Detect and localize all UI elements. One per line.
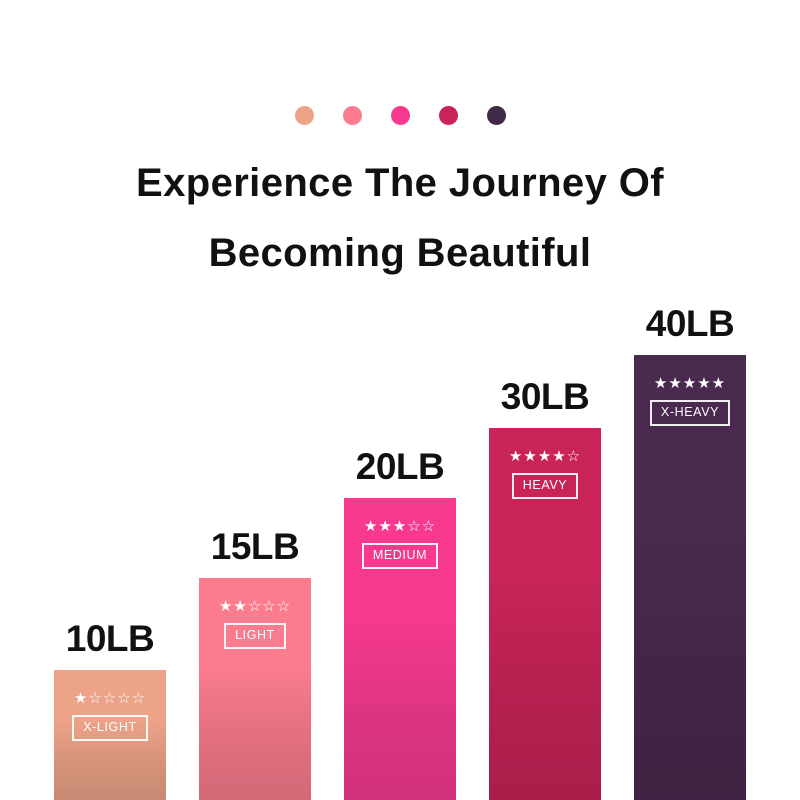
- star-rating-icon: ★★★★☆: [509, 449, 581, 464]
- palette-dot-icon-3: [391, 106, 410, 125]
- bar-column-15lb: 15LB ★★☆☆☆ LIGHT: [199, 280, 311, 800]
- palette-dot-icon-1: [295, 106, 314, 125]
- bar-30lb: ★★★★☆ HEAVY: [489, 428, 601, 800]
- level-name-badge: MEDIUM: [362, 543, 438, 569]
- bar-column-20lb: 20LB ★★★☆☆ MEDIUM: [344, 280, 456, 800]
- page-title: Experience The Journey Of Becoming Beaut…: [0, 148, 800, 288]
- star-rating-icon: ★☆☆☆☆: [74, 691, 146, 706]
- level-name-badge: HEAVY: [512, 473, 578, 499]
- bar-column-40lb: 40LB ★★★★★ X-HEAVY: [634, 280, 746, 800]
- bar-weight-label: 30LB: [501, 378, 589, 415]
- bar-weight-label: 10LB: [66, 620, 154, 657]
- page-title-line-2: Becoming Beautiful: [0, 218, 800, 288]
- level-name-badge: X-HEAVY: [650, 400, 730, 426]
- level-name-badge: LIGHT: [224, 623, 286, 649]
- bar-20lb: ★★★☆☆ MEDIUM: [344, 498, 456, 800]
- bar-15lb: ★★☆☆☆ LIGHT: [199, 578, 311, 800]
- bar-column-10lb: 10LB ★☆☆☆☆ X-LIGHT: [54, 280, 166, 800]
- star-rating-icon: ★★★☆☆: [364, 519, 436, 534]
- bar-weight-label: 40LB: [646, 305, 734, 342]
- bar-weight-label: 20LB: [356, 448, 444, 485]
- star-rating-icon: ★★★★★: [654, 376, 726, 391]
- decorative-dot-row: [0, 106, 800, 125]
- palette-dot-icon-2: [343, 106, 362, 125]
- bar-40lb: ★★★★★ X-HEAVY: [634, 355, 746, 800]
- palette-dot-icon-4: [439, 106, 458, 125]
- page-title-line-1: Experience The Journey Of: [0, 148, 800, 218]
- palette-dot-icon-5: [487, 106, 506, 125]
- resistance-level-bar-chart: 10LB ★☆☆☆☆ X-LIGHT 15LB ★★☆☆☆ LIGHT 20LB…: [0, 280, 800, 800]
- bar-weight-label: 15LB: [211, 528, 299, 565]
- bar-10lb: ★☆☆☆☆ X-LIGHT: [54, 670, 166, 800]
- poster-root: Experience The Journey Of Becoming Beaut…: [0, 0, 800, 800]
- star-rating-icon: ★★☆☆☆: [219, 599, 291, 614]
- bar-column-30lb: 30LB ★★★★☆ HEAVY: [489, 280, 601, 800]
- level-name-badge: X-LIGHT: [72, 715, 148, 741]
